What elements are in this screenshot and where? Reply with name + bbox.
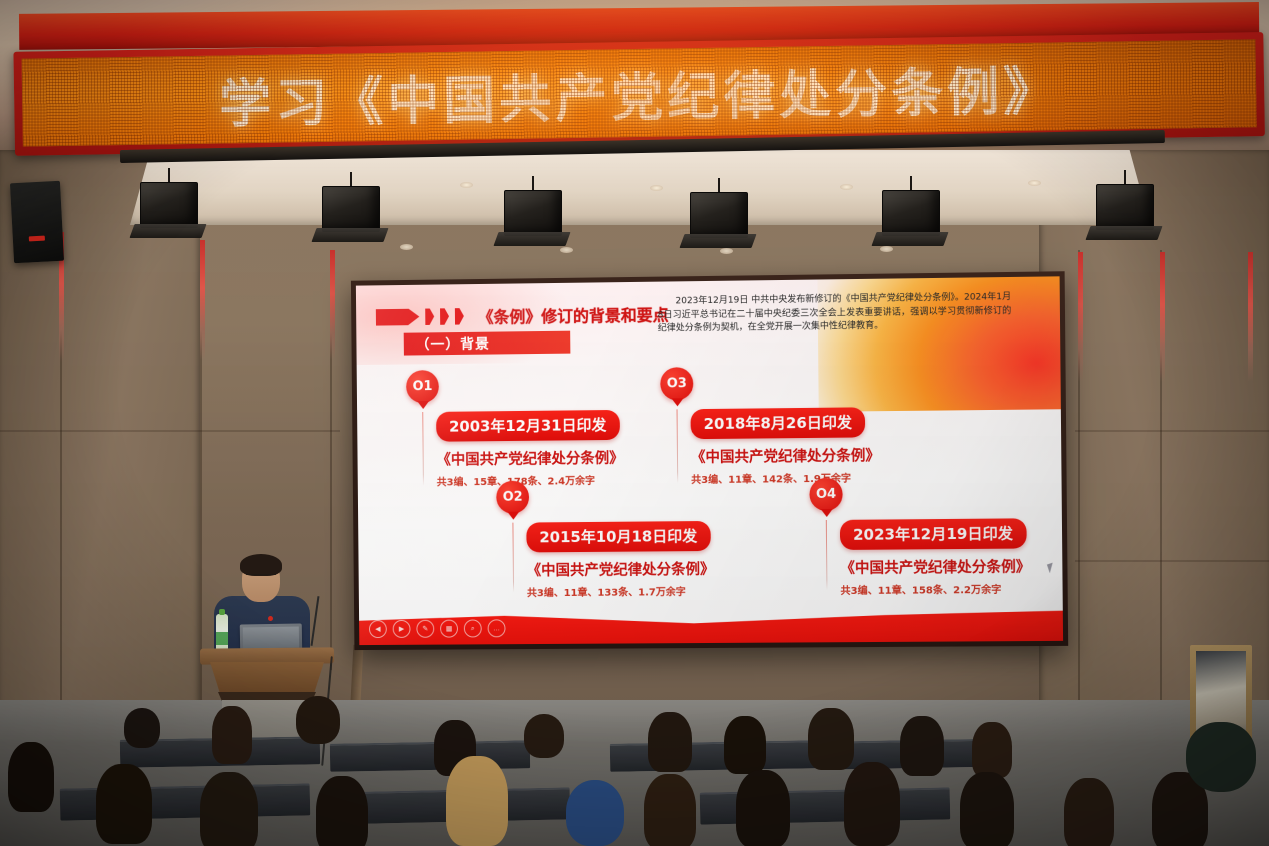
glasses-icon	[246, 574, 276, 581]
timeline-card-title: 《中国共产党纪律处分条例》	[840, 556, 1010, 578]
wall-accent-strip	[330, 250, 335, 360]
timeline-card-badge: O2	[496, 481, 529, 514]
slide-section-header: 《条例》修订的背景和要点	[376, 301, 669, 329]
wall-seam	[1075, 430, 1269, 432]
timeline-card: O2 2015年10月18日印发 《中国共产党纪律处分条例》 共3编、11章、1…	[480, 479, 694, 599]
wall-seam	[0, 430, 340, 432]
audience-head	[124, 708, 160, 748]
wall-accent-strip	[1248, 252, 1253, 382]
timeline-card-connector	[422, 412, 424, 486]
audience-head	[736, 770, 790, 846]
audience-head	[724, 716, 766, 774]
led-banner-text: 学习《中国共产党纪律处分条例》	[22, 46, 1257, 140]
wall-accent-strip	[1078, 252, 1083, 382]
projection-screen[interactable]: 《条例》修订的背景和要点 （一）背景 2023年12月19日 中共中央发布新修订…	[351, 271, 1068, 650]
timeline-card-detail: 共3编、11章、158条、2.2万余字	[840, 581, 1010, 597]
stage-light-fixture	[878, 186, 944, 248]
ceiling-downlight	[840, 184, 853, 190]
audience-head	[446, 756, 508, 846]
arrow-block-icon	[376, 308, 420, 325]
audience-head	[566, 780, 624, 846]
lecture-hall-photo: 学习《中国共产党纪律处分条例》	[0, 0, 1269, 846]
ceiling-downlight	[400, 244, 413, 250]
audience-head	[900, 716, 944, 776]
presentation-toolbar[interactable]: ◀ ▶ ✎ ▦ ⌕ …	[369, 619, 506, 638]
slide-section-title: 《条例》修订的背景和要点	[478, 301, 669, 327]
chevron-right-icon	[425, 308, 434, 325]
slide-subsection-bar: （一）背景	[404, 331, 571, 356]
previous-slide-icon[interactable]: ◀	[369, 620, 387, 638]
chevron-right-icon	[440, 308, 449, 325]
speaker-led-icon	[29, 236, 45, 242]
pen-annotate-icon[interactable]: ✎	[416, 620, 434, 638]
audience-head	[200, 772, 258, 846]
timeline-card-title: 《中国共产党纪律处分条例》	[436, 447, 603, 470]
ceiling-downlight	[880, 246, 893, 252]
timeline-card-title: 《中国共产党纪律处分条例》	[691, 444, 860, 467]
audience-head	[844, 762, 900, 846]
timeline-card-badge: O4	[809, 478, 842, 511]
slide-intro-paragraph: 2023年12月19日 中共中央发布新修订的《中国共产党纪律处分条例》。2024…	[657, 291, 1011, 336]
desk-row	[610, 740, 820, 772]
timeline-card: O1 2003年12月31日印发 《中国共产党纪律处分条例》 共3编、15章、1…	[390, 368, 603, 489]
ceiling-downlight	[460, 182, 473, 188]
audience-head	[1186, 722, 1256, 792]
microphone-stand	[311, 596, 320, 646]
audience-seating	[0, 686, 1269, 846]
wall-speaker	[10, 181, 64, 264]
presentation-slide[interactable]: 《条例》修订的背景和要点 （一）背景 2023年12月19日 中共中央发布新修订…	[356, 276, 1063, 645]
timeline-card-badge: O3	[660, 367, 693, 400]
timeline-card-connector	[512, 523, 514, 593]
audience-head	[296, 696, 340, 744]
timeline-card-title: 《中国共产党纪律处分条例》	[527, 558, 694, 580]
stage-light-fixture	[136, 178, 202, 240]
audience-head	[8, 742, 54, 812]
audience-head	[316, 776, 368, 846]
audience-head	[644, 774, 696, 846]
timeline-card-date: 2015年10月18日印发	[526, 521, 710, 552]
timeline-card-connector	[677, 409, 679, 483]
stage-light-fixture	[1092, 180, 1158, 242]
audience-head	[212, 706, 252, 764]
timeline-card-date: 2003年12月31日印发	[436, 410, 619, 442]
ceiling-downlight	[560, 247, 573, 253]
ceiling-downlight	[650, 185, 663, 191]
timeline-card: O3 2018年8月26日印发 《中国共产党纪律处分条例》 共3编、11章、14…	[644, 365, 859, 486]
lapel-pin-icon	[268, 616, 273, 621]
ceiling-downlight	[720, 248, 733, 254]
audience-head	[1064, 778, 1114, 846]
stage-light-fixture	[686, 188, 752, 250]
timeline-card-date: 2023年12月19日印发	[840, 518, 1026, 550]
ceiling-downlight	[1028, 180, 1041, 186]
stage-light-fixture	[318, 182, 384, 244]
wall-accent-strip	[200, 240, 205, 360]
chevron-right-icon	[455, 308, 464, 325]
speaker-hair	[240, 554, 282, 576]
wall-accent-strip	[1160, 252, 1165, 382]
stage-light-fixture	[500, 186, 566, 248]
timeline-card-date: 2018年8月26日印发	[691, 407, 866, 439]
wall-seam	[1075, 560, 1269, 562]
audience-head	[972, 722, 1012, 778]
slide-subsection-label: （一）背景	[404, 333, 490, 354]
audience-head	[960, 772, 1014, 846]
timeline-card: O4 2023年12月19日印发 《中国共产党纪律处分条例》 共3编、11章、1…	[793, 476, 1010, 597]
led-banner-screen: 学习《中国共产党纪律处分条例》	[22, 39, 1257, 146]
audience-head	[808, 708, 854, 770]
audience-head	[648, 712, 692, 772]
audience-head	[524, 714, 564, 758]
audience-head	[96, 764, 152, 844]
timeline-card-detail: 共3编、11章、133条、1.7万余字	[527, 583, 694, 599]
timeline-card-connector	[826, 520, 828, 590]
slide-grid-icon[interactable]: ▦	[440, 620, 458, 638]
timeline-card-badge: O1	[406, 370, 439, 403]
next-slide-icon[interactable]: ▶	[393, 620, 411, 638]
ceiling-soffit	[130, 150, 1150, 225]
more-options-icon[interactable]: …	[488, 619, 506, 637]
zoom-magnifier-icon[interactable]: ⌕	[464, 619, 482, 637]
